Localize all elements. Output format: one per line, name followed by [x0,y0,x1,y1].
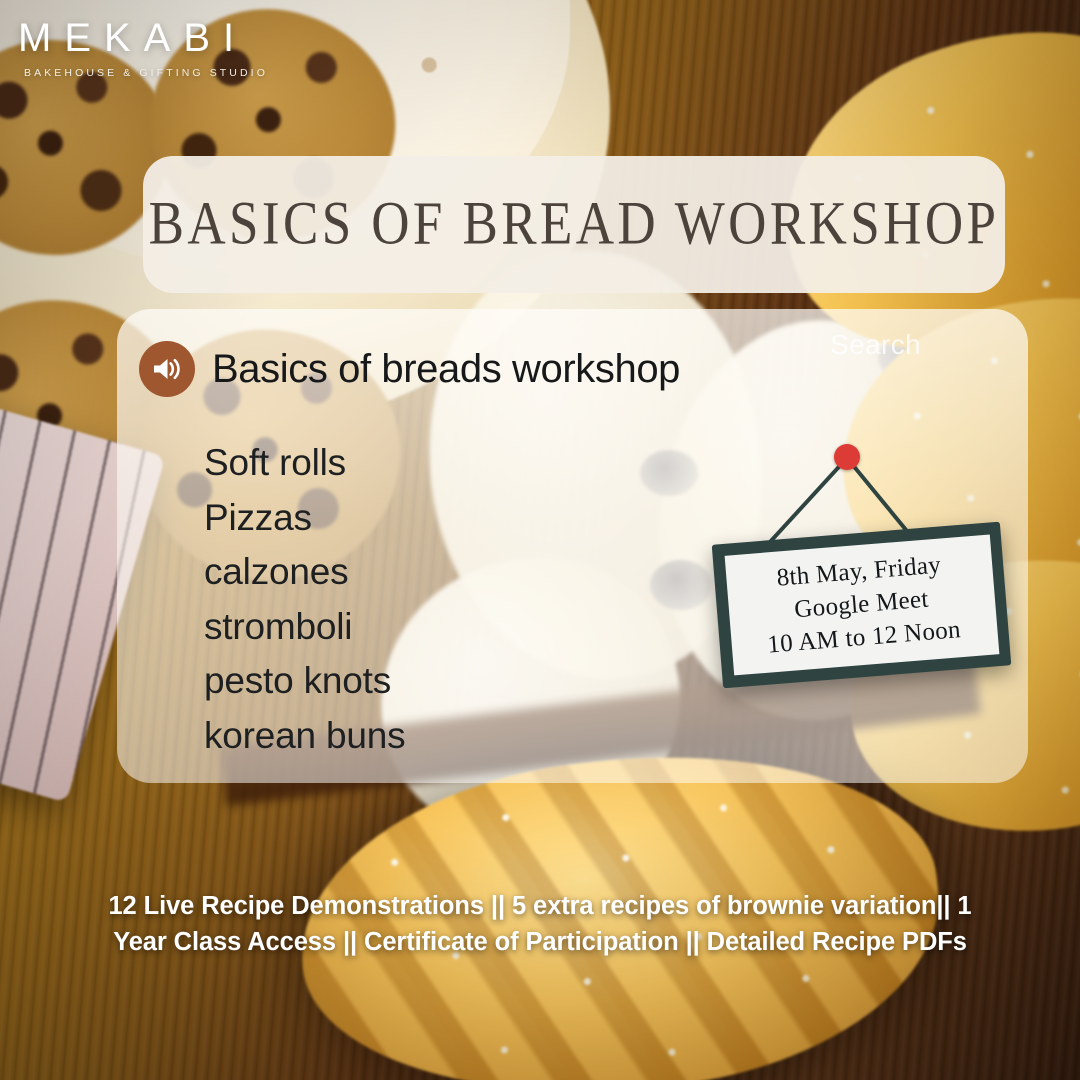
sign-hook-knob [834,444,860,470]
page-title: BASICS OF BREAD WORKSHOP [149,190,1000,259]
list-item: calzones [204,545,405,600]
sign-face: 8th May, Friday Google Meet 10 AM to 12 … [724,535,999,676]
headline-row: Basics of breads workshop [139,341,680,397]
brand-name: MEKABI [18,18,268,58]
search-watermark-label: Search [830,329,921,361]
list-item: Pizzas [204,491,405,546]
brand-tagline: BAKEHOUSE & GIFTING STUDIO [24,67,268,79]
workshop-headline: Basics of breads workshop [212,347,680,392]
hanging-schedule-sign: 8th May, Friday Google Meet 10 AM to 12 … [713,436,1013,691]
list-item: korean buns [204,709,405,764]
speaker-announcement-icon [139,341,195,397]
title-card: BASICS OF BREAD WORKSHOP [143,156,1005,293]
feature-benefits-text: 12 Live Recipe Demonstrations || 5 extra… [90,888,990,960]
workshop-item-list: Soft rolls Pizzas calzones stromboli pes… [204,436,405,763]
sign-plate: 8th May, Friday Google Meet 10 AM to 12 … [712,522,1012,689]
list-item: stromboli [204,600,405,655]
brand-logo: MEKABI BAKEHOUSE & GIFTING STUDIO [18,18,268,79]
list-item: Soft rolls [204,436,405,491]
list-item: pesto knots [204,654,405,709]
